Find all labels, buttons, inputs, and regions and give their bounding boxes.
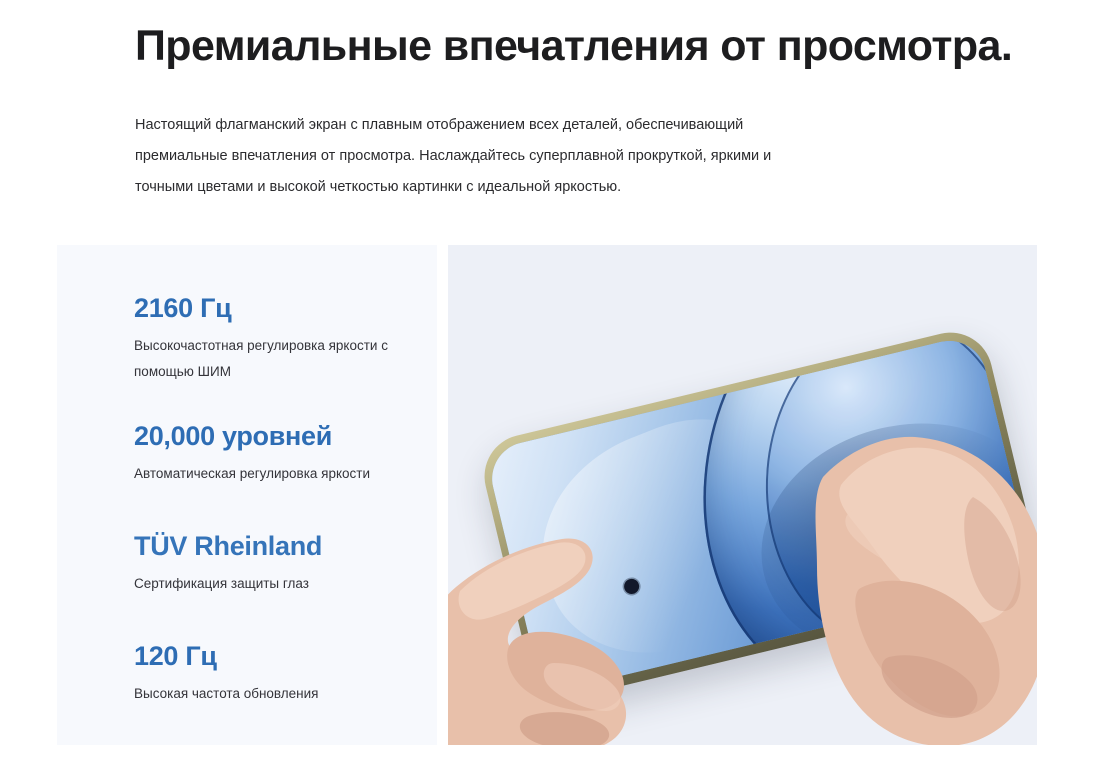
product-image-panel — [448, 245, 1037, 745]
spec-value: TÜV Rheinland — [134, 528, 437, 564]
spec-item-brightness-levels: 20,000 уровней Автоматическая регулировк… — [134, 418, 437, 487]
spec-description: Высокая частота обновления — [134, 681, 434, 707]
left-hand — [448, 423, 694, 745]
spec-description: Высокочастотная регулировка яркости с по… — [134, 333, 434, 385]
spec-value: 120 Гц — [134, 638, 437, 674]
product-display-section: Премиальные впечатления от просмотра. На… — [0, 0, 1100, 758]
spec-description: Автоматическая регулировка яркости — [134, 461, 434, 487]
spec-item-tuv-certification: TÜV Rheinland Сертификация защиты глаз — [134, 528, 437, 597]
spec-item-pwm-dimming: 2160 Гц Высокочастотная регулировка ярко… — [134, 290, 437, 385]
right-hand — [763, 357, 1037, 745]
spec-panel: 2160 Гц Высокочастотная регулировка ярко… — [57, 245, 437, 745]
spec-value: 2160 Гц — [134, 290, 437, 326]
intro-paragraph: Настоящий флагманский экран с плавным от… — [135, 110, 825, 203]
spec-value: 20,000 уровней — [134, 418, 437, 454]
page-title: Премиальные впечатления от просмотра. — [135, 18, 1035, 74]
feature-panels-row: 2160 Гц Высокочастотная регулировка ярко… — [57, 245, 1037, 745]
spec-item-refresh-rate: 120 Гц Высокая частота обновления — [134, 638, 437, 707]
hands-holding-phone-illustration — [448, 245, 1037, 745]
spec-description: Сертификация защиты глаз — [134, 571, 434, 597]
